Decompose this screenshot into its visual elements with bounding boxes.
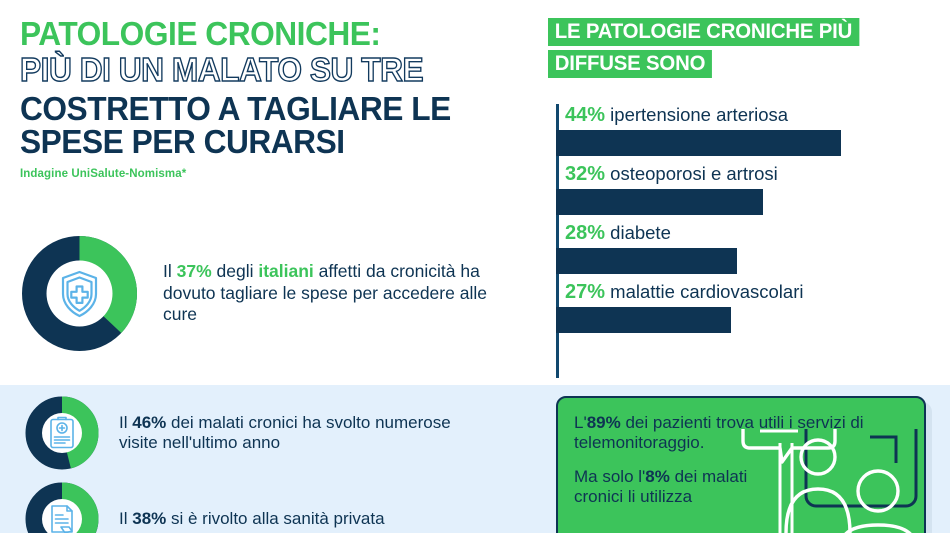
source-note: Indagine UniSalute-Nomisma* (20, 168, 530, 180)
donut-chart-46 (25, 396, 99, 470)
chart-bars: 44% ipertensione arteriosa 32% osteoporo… (556, 104, 943, 340)
stat-text-46: Il 46% dei malati cronici ha svolto nume… (119, 413, 479, 454)
bar-category-2: diabete (610, 222, 671, 243)
bar-rect-2 (556, 248, 737, 274)
bar-group-1: 32% osteoporosi e artrosi (556, 163, 943, 215)
bar-category-3: malattie cardiovascolari (610, 281, 803, 302)
card-line1-value: 89% (587, 413, 621, 432)
bar-rect-3 (556, 307, 731, 333)
bar-rect-0 (556, 130, 841, 156)
page-title: Patologie croniche: Più di un malato su … (20, 18, 530, 180)
bar-label-1: 32% osteoporosi e artrosi (556, 163, 943, 186)
card-line2-pre: Ma solo l' (574, 467, 645, 486)
telemonitoring-card: L'89% dei pazienti trova utili i servizi… (556, 396, 926, 533)
card-line-1: L'89% dei pazienti trova utili i servizi… (574, 413, 908, 454)
bar-label-0: 44% ipertensione arteriosa (556, 104, 943, 127)
main-text-pre: Il (163, 261, 177, 281)
bar-label-3: 27% malattie cardiovascolari (556, 281, 943, 304)
bar-category-0: ipertensione arteriosa (610, 104, 788, 125)
bar-group-0: 44% ipertensione arteriosa (556, 104, 943, 156)
stat-46-rest: dei malati cronici ha svolto numerose vi… (119, 413, 451, 452)
telemonitoring-text: L'89% dei pazienti trova utili i servizi… (558, 398, 924, 508)
card-line-2: Ma solo l'8% dei malati cronici li utili… (574, 467, 749, 508)
stat-38-pre: Il (119, 509, 132, 528)
stat-38-value: 38% (132, 509, 166, 528)
bar-rect-1 (556, 189, 763, 215)
main-stat-value: 37% (177, 261, 212, 281)
stat-item-38: Il 38% si è rivolto alla sanità privata (25, 482, 479, 533)
bar-label-2: 28% diabete (556, 222, 943, 245)
card-line1-pre: L' (574, 413, 587, 432)
bar-value-2: 28% (565, 222, 605, 244)
bar-value-3: 27% (565, 281, 605, 303)
stat-46-pre: Il (119, 413, 132, 432)
bar-value-1: 32% (565, 163, 605, 185)
title-line-4: Spese per curarsi (20, 126, 510, 158)
infographic-root: Patologie croniche: Più di un malato su … (0, 0, 950, 533)
card-line2-value: 8% (645, 467, 670, 486)
title-line-1: Patologie croniche: (20, 18, 510, 50)
donut-chart-37 (22, 236, 137, 351)
title-line-3: Costretto a tagliare le (20, 93, 510, 125)
main-text-mid: degli (212, 261, 259, 281)
bar-group-3: 27% malattie cardiovascolari (556, 281, 943, 333)
stat-item-46: Il 46% dei malati cronici ha svolto nume… (25, 396, 479, 470)
main-text-bold: italiani (258, 261, 313, 281)
chart-title-line-1: Le patologie croniche più (548, 18, 859, 46)
title-line-2: Più di un malato su tre (20, 54, 510, 86)
main-stat-row: Il 37% degli italiani affetti da cronici… (22, 236, 518, 351)
main-stat-text: Il 37% degli italiani affetti da cronici… (163, 261, 518, 325)
stat-text-38: Il 38% si è rivolto alla sanità privata (119, 509, 479, 529)
donut-chart-38 (25, 482, 99, 533)
stat-38-rest: si è rivolto alla sanità privata (166, 509, 384, 528)
bar-chart: Le patologie croniche più Diffuse sono 4… (548, 18, 943, 378)
bar-group-2: 28% diabete (556, 222, 943, 274)
bar-category-1: osteoporosi e artrosi (610, 163, 778, 184)
chart-title: Le patologie croniche più Diffuse sono (548, 18, 869, 82)
chart-title-line-2: Diffuse sono (548, 50, 712, 78)
stat-46-value: 46% (132, 413, 166, 432)
bar-value-0: 44% (565, 104, 605, 126)
